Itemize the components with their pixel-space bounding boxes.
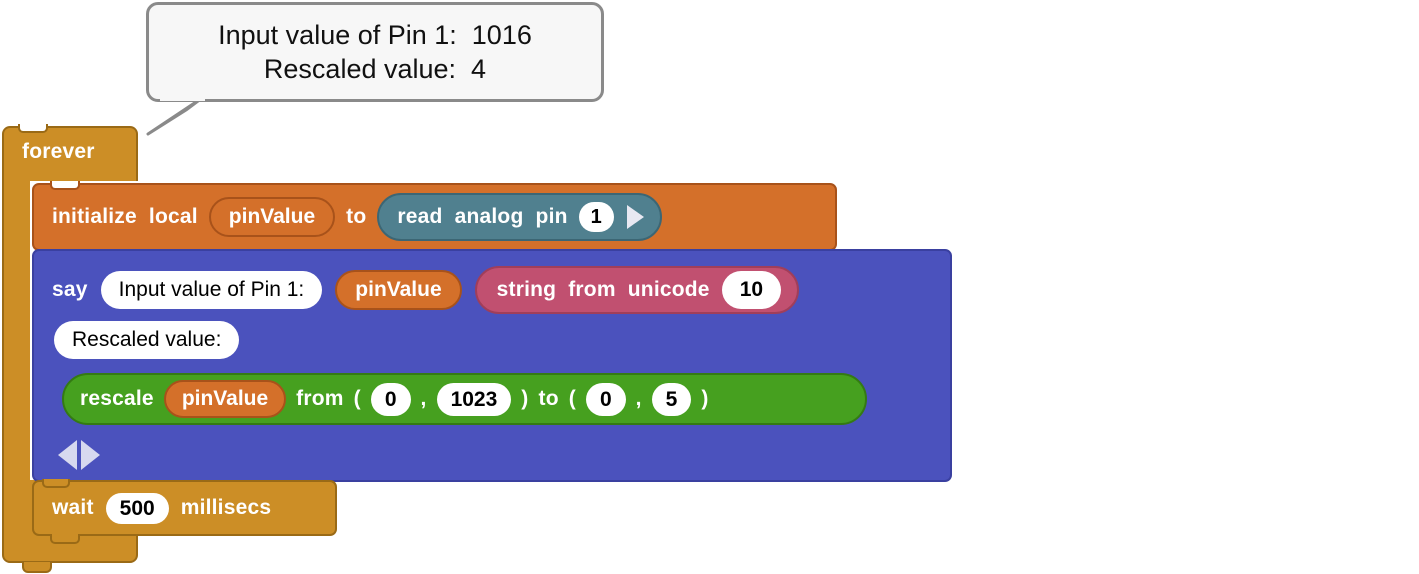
rescale-to-max-input[interactable]: 5 [652,383,692,416]
forever-block-foot-notch [22,562,52,573]
rescale-from-min-input[interactable]: 0 [371,383,411,416]
initialize-local-label: initialize local [52,205,198,229]
wait-duration-input[interactable]: 500 [106,493,169,524]
rescale-block[interactable]: rescale pinValue from ( 0 , 1023 ) to ( … [62,373,867,425]
speech-bubble-line-1: Input value of Pin 1: 1016 [218,18,532,52]
say-block-row-1: say Input value of Pin 1: pinValue strin… [52,266,799,314]
initialize-local-block[interactable]: initialize local pinValue to read analog… [32,183,837,251]
say-text-input-1[interactable]: Input value of Pin 1: [101,271,323,309]
rescale-to-label: to [539,387,559,411]
rescale-open-paren-2: ( [569,387,576,411]
right-arrow-icon[interactable] [627,205,644,229]
rescale-comma-1: , [421,387,427,411]
initialize-local-to-label: to [346,205,366,229]
read-analog-pin-label: read analog pin [397,205,567,229]
initialize-local-top-notch [50,181,80,190]
rescale-open-paren-1: ( [354,387,361,411]
string-from-unicode-label: string from unicode [497,278,710,302]
rescale-close-paren-1: ) [521,387,528,411]
rescale-from-label: from [296,387,343,411]
speech-bubble: Input value of Pin 1: 1016 Rescaled valu… [146,2,604,102]
wait-block-bottom-notch [50,534,80,544]
say-label: say [52,278,88,302]
speech-bubble-line-2: Rescaled value: 4 [264,52,486,86]
speech-bubble-tail [140,96,210,136]
say-block-arrows[interactable] [58,440,100,470]
read-analog-pin-number-input[interactable]: 1 [579,202,614,232]
right-arrow-icon[interactable] [81,440,100,470]
rescale-variable-oval-pinvalue[interactable]: pinValue [164,380,286,418]
forever-block-label: forever [22,140,95,164]
say-block-row-2: Rescaled value: [54,321,239,359]
wait-block[interactable]: wait 500 millisecs [32,480,337,536]
rescale-comma-2: , [636,387,642,411]
forever-block-inner-notch [42,479,70,488]
string-from-unicode-block[interactable]: string from unicode 10 [475,266,799,314]
read-analog-pin-block[interactable]: read analog pin 1 [377,193,661,241]
string-from-unicode-number-input[interactable]: 10 [722,271,781,309]
rescale-from-max-input[interactable]: 1023 [437,383,512,416]
rescale-to-min-input[interactable]: 0 [586,383,626,416]
forever-block-top-notch [18,124,48,133]
rescale-label: rescale [80,387,154,411]
wait-label: wait [52,496,94,520]
say-block[interactable]: say Input value of Pin 1: pinValue strin… [32,249,952,482]
initialize-local-variable-oval[interactable]: pinValue [209,197,335,237]
wait-units-label: millisecs [181,496,272,520]
rescale-close-paren-2: ) [701,387,708,411]
say-variable-oval-pinvalue[interactable]: pinValue [335,270,461,310]
say-text-input-2[interactable]: Rescaled value: [54,321,239,359]
left-arrow-icon[interactable] [58,440,77,470]
